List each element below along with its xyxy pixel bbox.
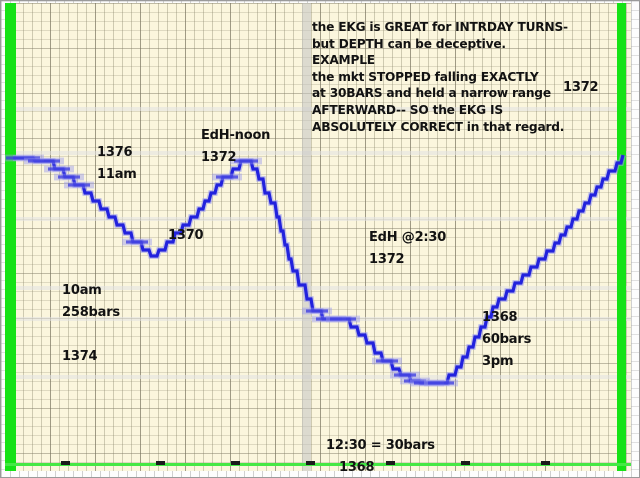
- chart-panel[interactable]: the EKG is GREAT for INTRDAY TURNS- but …: [5, 3, 631, 471]
- time-axis-tick: [156, 461, 165, 465]
- screenshot-root: the EKG is GREAT for INTRDAY TURNS- but …: [0, 0, 640, 478]
- annotation-edh-230: EdH @2:30 1372: [369, 227, 446, 271]
- annotation-low-3pm: 1368 60bars 3pm: [482, 307, 531, 373]
- time-axis-tick: [231, 461, 240, 465]
- time-axis-tick: [541, 461, 550, 465]
- annotation-note: the EKG is GREAT for INTRDAY TURNS- but …: [312, 19, 568, 135]
- time-axis-tick: [61, 461, 70, 465]
- annotation-peak-11am: 1376 11am: [97, 142, 137, 186]
- time-axis-tick: [461, 461, 470, 465]
- annotation-1230-30bars: 12:30 = 30bars 1368: [326, 435, 435, 471]
- time-axis-tick: [306, 461, 315, 465]
- annotation-level-1370: 1370: [168, 229, 203, 242]
- time-axis-line: [5, 463, 631, 466]
- annotation-noon-high: EdH-noon 1372: [201, 125, 270, 169]
- annotation-top-right-1372: 1372: [563, 81, 598, 94]
- annotation-morning-low: 10am 258bars 1374: [62, 280, 120, 368]
